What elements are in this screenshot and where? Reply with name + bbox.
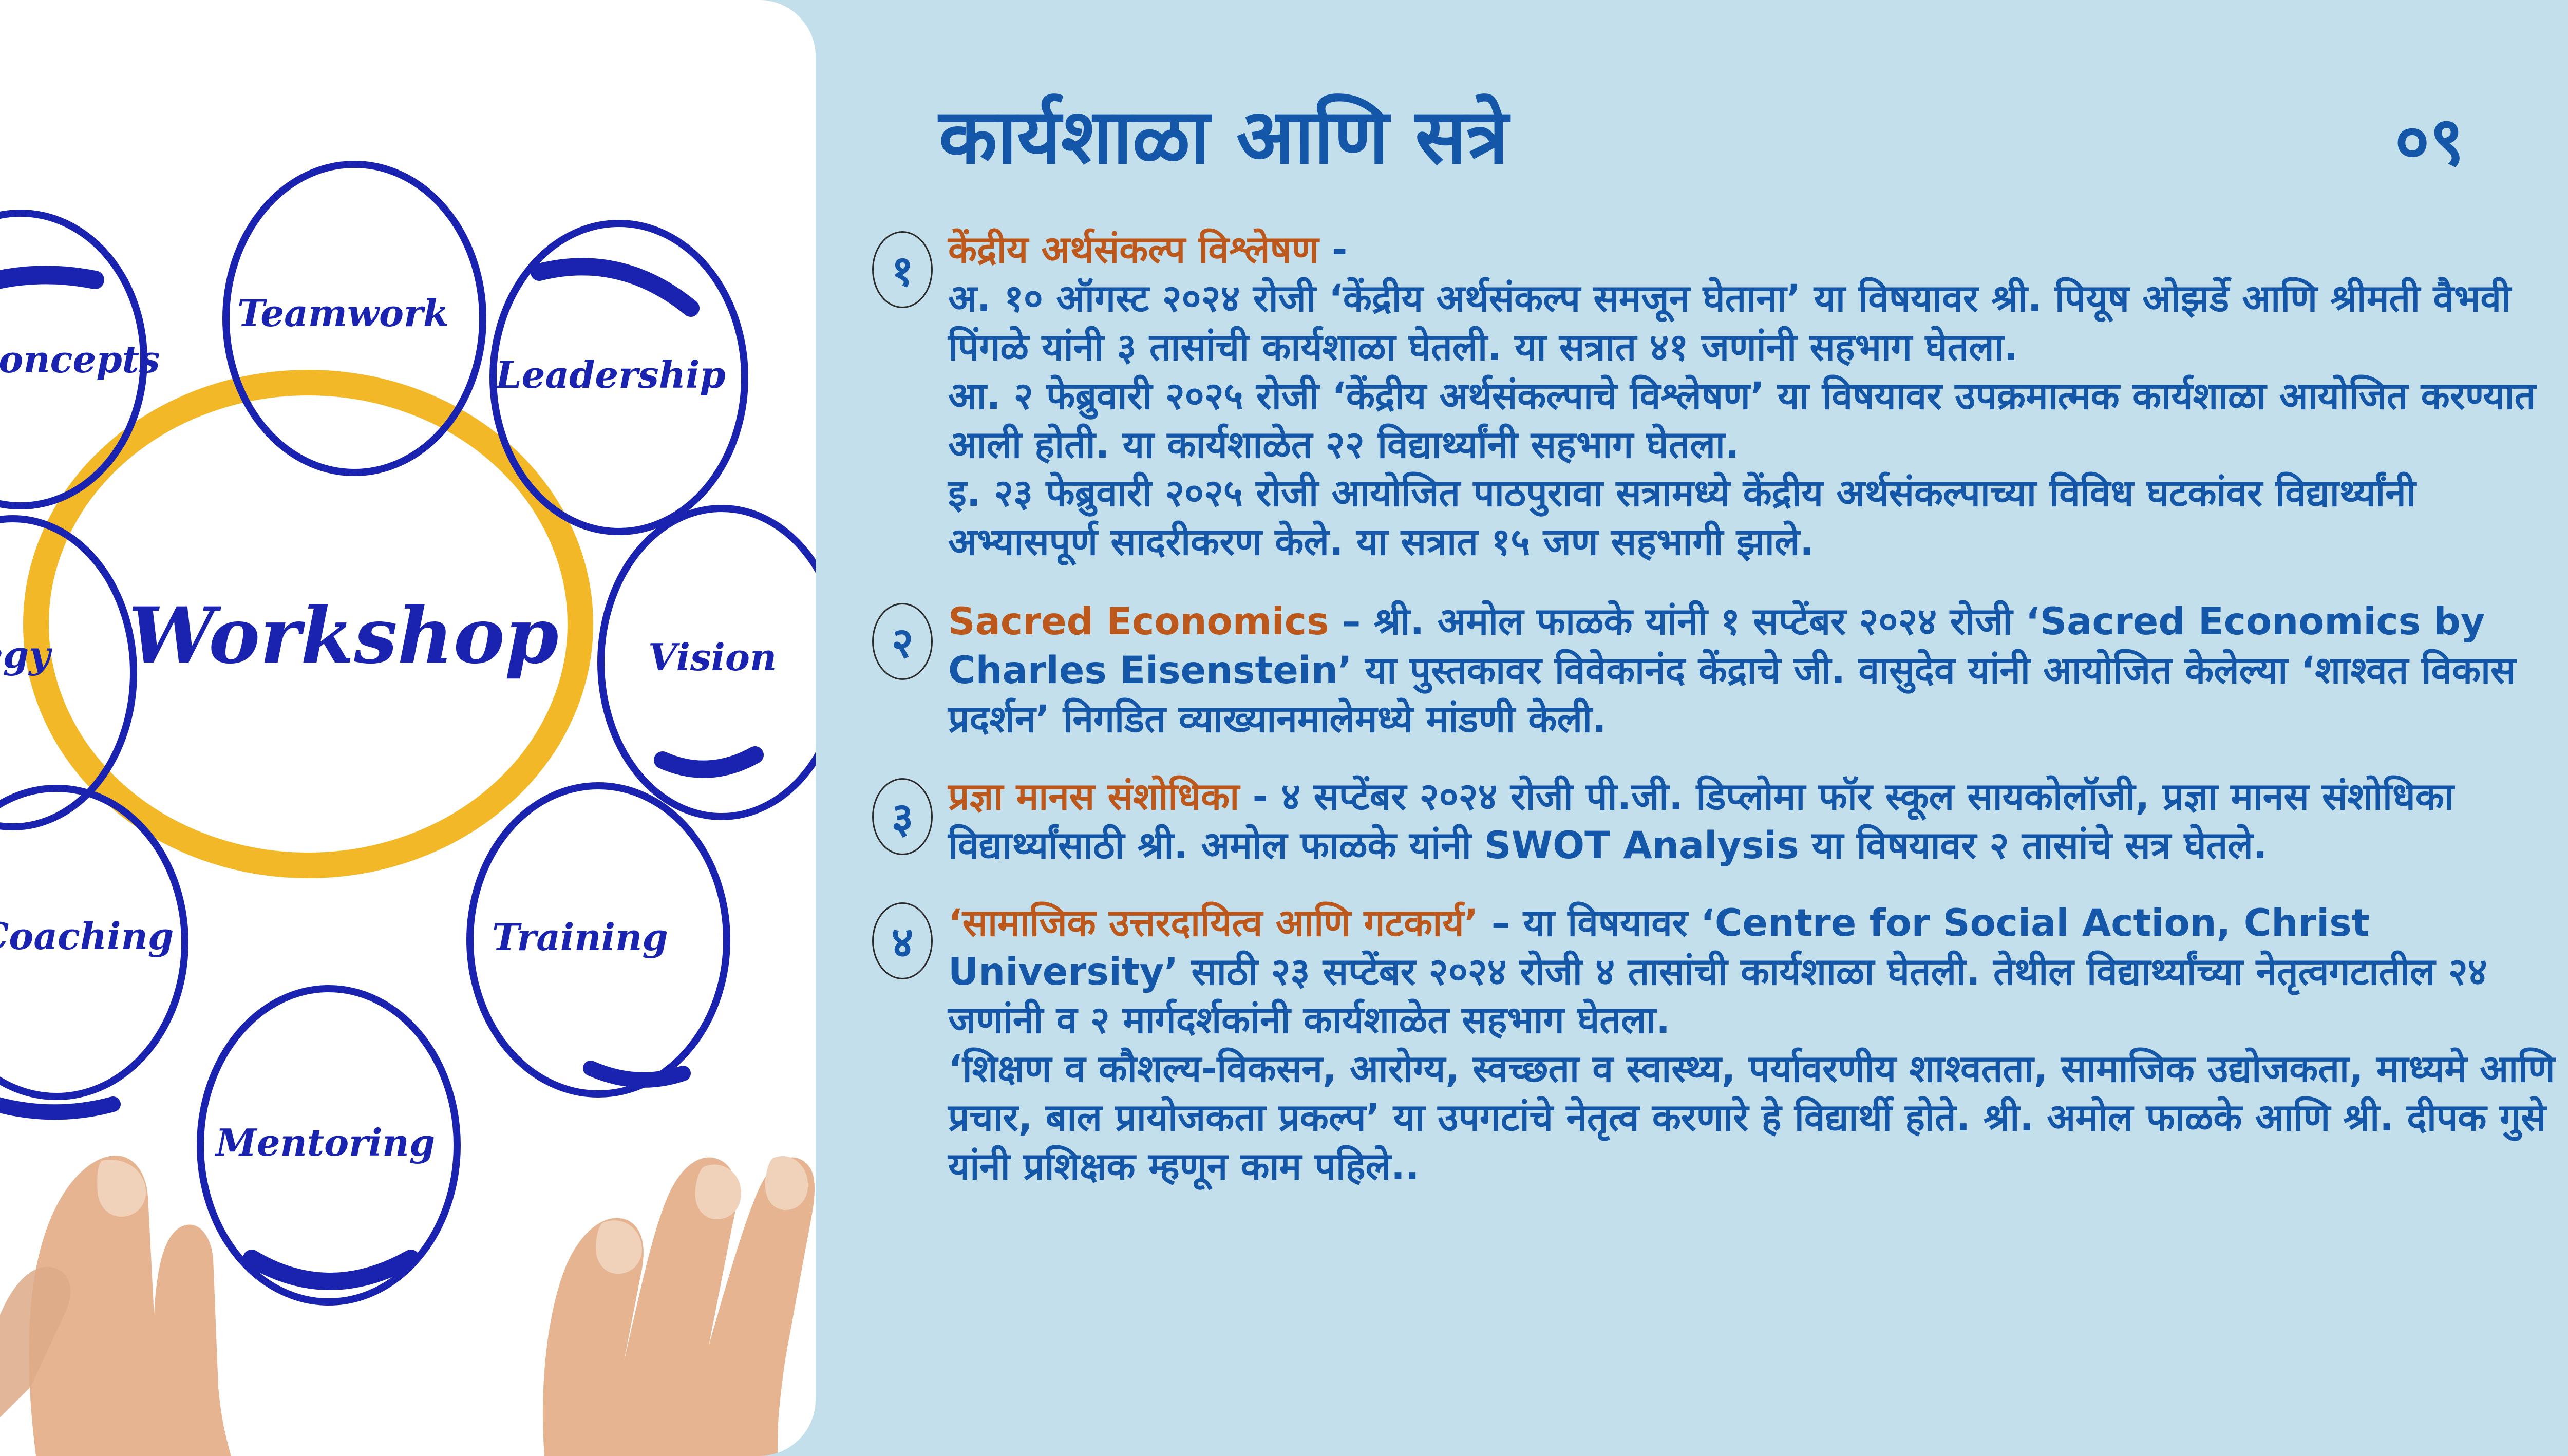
item-body-3: प्रज्ञा मानस संशोधिका - ४ सप्टेंबर २०२४ … — [948, 773, 2562, 871]
workshop-items-list: १ केंद्रीय अर्थसंकल्प विश्लेषण - अ. १० ऑ… — [872, 226, 2562, 1214]
item-paragraph: आ. २ फेब्रुवारी २०२५ रोजी ‘केंद्रीय अर्थ… — [948, 372, 2562, 470]
workshop-diagram: Concepts Teamwork Leadership Vision Trai… — [0, 0, 816, 1456]
node-label-mentoring: Mentoring — [214, 1121, 435, 1164]
node-label-strategy: egy — [0, 633, 52, 676]
item-heading-1: केंद्रीय अर्थसंकल्प विश्लेषण — [948, 228, 1319, 272]
list-item: २ Sacred Economics – श्री. अमोल फाळके या… — [872, 598, 2562, 744]
node-label-coaching: Coaching — [0, 914, 174, 958]
item-body-4: ‘सामाजिक उत्तरदायित्व आणि गटकार्य’ – या … — [948, 899, 2562, 1192]
hands-photo — [0, 1156, 815, 1456]
item-marker-1: १ — [872, 231, 933, 308]
slide-header: कार्यशाळा आणि सत्रे ०९ — [939, 77, 2510, 175]
item-paragraph: इ. २३ फेब्रुवारी २०२५ रोजी आयोजित पाठपुर… — [948, 469, 2562, 567]
node-label-leadership: Leadership — [495, 353, 726, 396]
sketch-stroke-training — [591, 1068, 683, 1080]
slide-content: कार्यशाळा आणि सत्रे ०९ १ केंद्रीय अर्थसं… — [816, 0, 2568, 1456]
list-item: ४ ‘सामाजिक उत्तरदायित्व आणि गटकार्य’ – य… — [872, 899, 2562, 1192]
item-marker-3: ३ — [872, 778, 933, 855]
sketch-stroke-concepts — [0, 275, 95, 288]
item-heading-suffix-1: - — [1319, 228, 1348, 272]
item-marker-4: ४ — [872, 902, 933, 979]
item-marker-2: २ — [872, 603, 933, 680]
sketch-stroke-vision — [663, 755, 755, 769]
node-label-training: Training — [492, 915, 668, 959]
item-heading-3: प्रज्ञा मानस संशोधिका — [948, 775, 1239, 819]
diagram-center-label: Workshop — [128, 591, 559, 681]
sketch-stroke-leadership — [539, 267, 691, 308]
item-body-2: Sacred Economics – श्री. अमोल फाळके यांन… — [948, 598, 2562, 744]
sketch-stroke-mentoring — [252, 1258, 411, 1281]
page-number: ०९ — [2395, 108, 2510, 175]
list-item: ३ प्रज्ञा मानस संशोधिका - ४ सप्टेंबर २०२… — [872, 773, 2562, 871]
item-heading-4: ‘सामाजिक उत्तरदायित्व आणि गटकार्य’ — [948, 901, 1478, 945]
item-paragraph: ‘शिक्षण व कौशल्य-विकसन, आरोग्य, स्वच्छता… — [948, 1045, 2562, 1192]
item-body-1: केंद्रीय अर्थसंकल्प विश्लेषण - अ. १० ऑगस… — [948, 226, 2562, 567]
item-heading-line-1: केंद्रीय अर्थसंकल्प विश्लेषण - — [948, 226, 2562, 275]
node-label-vision: Vision — [648, 635, 777, 679]
workshop-illustration-panel: Concepts Teamwork Leadership Vision Trai… — [0, 0, 816, 1456]
node-label-teamwork: Teamwork — [237, 291, 449, 335]
page-title: कार्यशाळा आणि सत्रे — [939, 99, 1508, 175]
item-heading-2: Sacred Economics — [948, 600, 1329, 644]
list-item: १ केंद्रीय अर्थसंकल्प विश्लेषण - अ. १० ऑ… — [872, 226, 2562, 567]
item-paragraph: अ. १० ऑगस्ट २०२४ रोजी ‘केंद्रीय अर्थसंकल… — [948, 275, 2562, 372]
sketch-stroke-coaching — [0, 1099, 113, 1112]
node-label-concepts: Concepts — [0, 337, 160, 381]
